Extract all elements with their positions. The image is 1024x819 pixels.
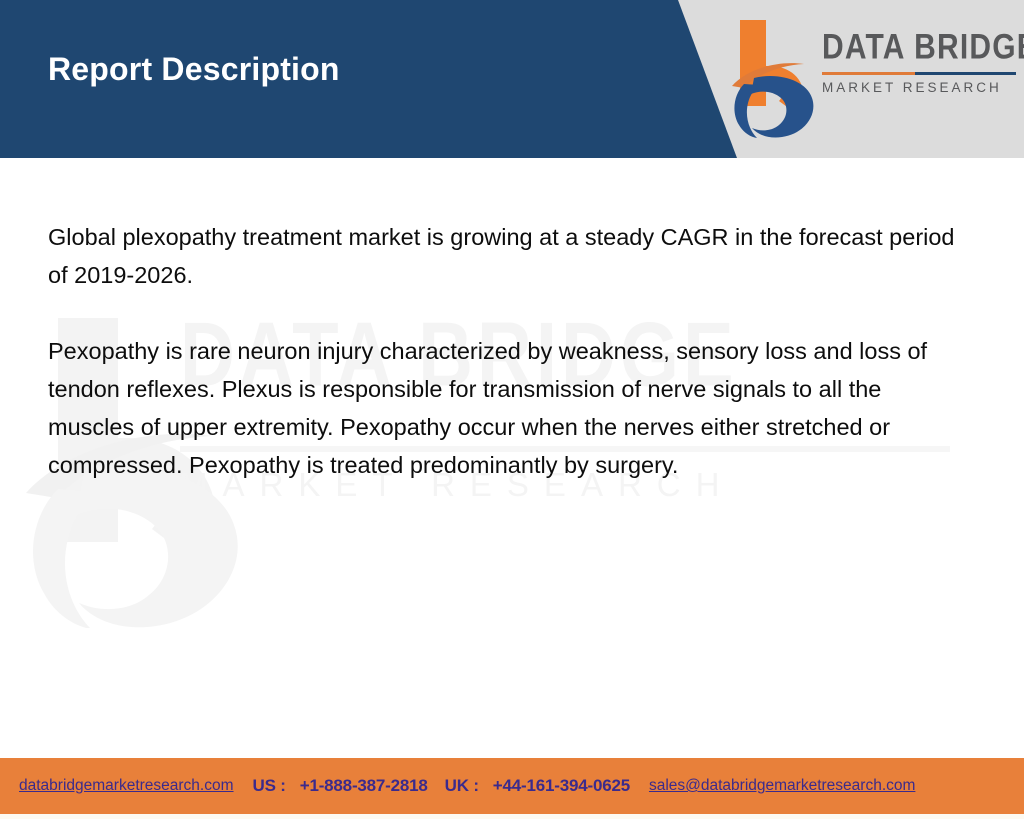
page-title: Report Description [48, 50, 340, 88]
footer-uk-phone[interactable]: +44-161-394-0625 [493, 776, 630, 796]
body-content: Global plexopathy treatment market is gr… [48, 218, 968, 484]
logo-line2: MARKET RESEARCH [822, 80, 1018, 95]
paragraph-1: Global plexopathy treatment market is gr… [48, 218, 968, 294]
data-bridge-b-logo-icon [730, 14, 816, 138]
footer-uk-label: UK : [445, 776, 479, 796]
footer-email-link[interactable]: sales@databridgemarketresearch.com [649, 777, 915, 795]
footer-content: databridgemarketresearch.com US : +1-888… [0, 758, 1024, 814]
header-band: Report Description DATA BRIDGE MARKET RE… [0, 0, 1024, 158]
logo-line1: DATA BRIDGE [822, 30, 1018, 65]
footer-us-phone[interactable]: +1-888-387-2818 [300, 776, 428, 796]
footer-website-link[interactable]: databridgemarketresearch.com [19, 777, 234, 795]
paragraph-2: Pexopathy is rare neuron injury characte… [48, 332, 968, 484]
slide: Report Description DATA BRIDGE MARKET RE… [0, 0, 1024, 819]
logo-wordmark: DATA BRIDGE MARKET RESEARCH [822, 30, 1018, 95]
footer-us-label: US : [253, 776, 286, 796]
logo-divider [822, 72, 1016, 75]
footer-bottom-strip [0, 814, 1024, 819]
footer-band: databridgemarketresearch.com US : +1-888… [0, 758, 1024, 819]
brand-logo: DATA BRIDGE MARKET RESEARCH [730, 14, 1020, 138]
